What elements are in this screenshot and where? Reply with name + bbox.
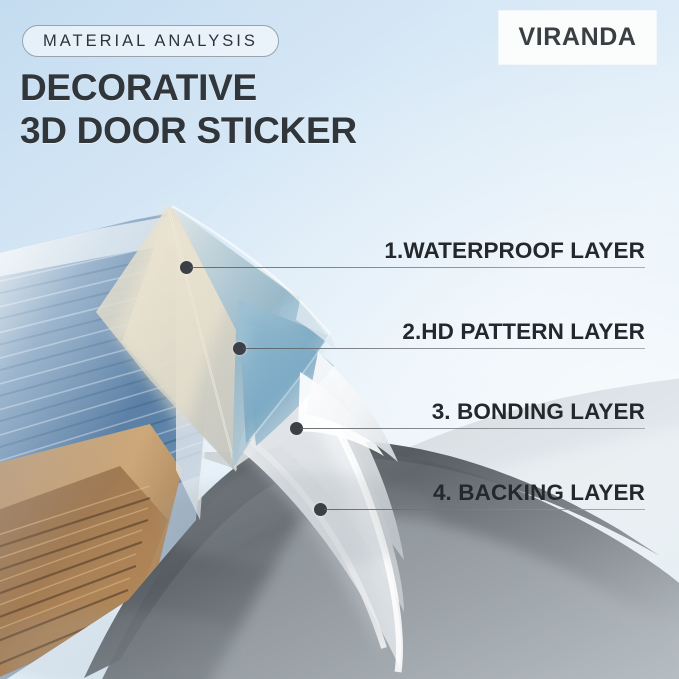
poster-root: MATERIAL ANALYSIS DECORATIVE 3D DOOR STI… — [0, 0, 679, 679]
page-title: DECORATIVE 3D DOOR STICKER — [20, 66, 357, 152]
brand-logo: VIRANDA — [499, 11, 656, 64]
callout-label-2: 2.HD PATTERN LAYER — [345, 319, 645, 345]
callout-label-1: 1.WATERPROOF LAYER — [345, 238, 645, 264]
badge-material-analysis: MATERIAL ANALYSIS — [22, 25, 279, 57]
callout-label-4: 4. BACKING LAYER — [345, 480, 645, 506]
callout-line-3 — [300, 428, 645, 429]
title-line-2: 3D DOOR STICKER — [20, 109, 357, 152]
callout-label-3: 3. BONDING LAYER — [345, 399, 645, 425]
brand-name: VIRANDA — [518, 23, 636, 52]
title-line-1: DECORATIVE — [20, 67, 257, 108]
callout-line-1 — [190, 267, 645, 268]
callout-line-2 — [243, 348, 645, 349]
badge-label: MATERIAL ANALYSIS — [43, 32, 258, 51]
callout-line-4 — [324, 509, 645, 510]
